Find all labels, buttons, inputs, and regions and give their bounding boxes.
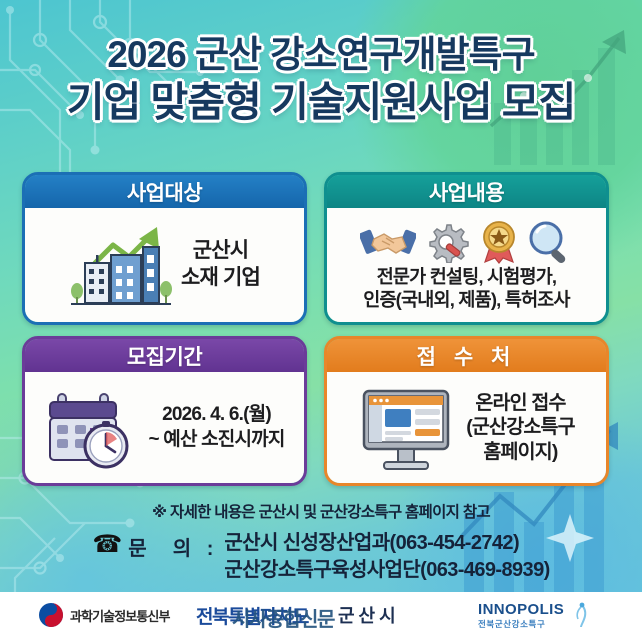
card-body-project-target: 군산시 소재 기업 bbox=[25, 208, 304, 322]
logo-innopolis-sub: 전북군산강소특구 bbox=[478, 618, 564, 630]
card-text-project-content: 전문가 컨설팅, 시험평가, 인증(국내외, 제품), 특허조사 bbox=[363, 266, 570, 312]
telephone-icon: ☎ bbox=[92, 533, 122, 557]
logo-innopolis: INNOPOLIS 전북군산강소특구 bbox=[478, 601, 592, 630]
card-application-channel: 접 수 처 bbox=[324, 336, 609, 486]
card-header-project-target: 사업대상 bbox=[25, 175, 304, 208]
title-line-1: 2026 군산 강소연구개발특구 bbox=[0, 36, 642, 73]
reference-note: ※ 자세한 내용은 군산시 및 군산강소특구 홈페이지 참고 bbox=[0, 500, 642, 522]
service-icon-row bbox=[360, 220, 573, 264]
card-body-application-channel: 온라인 접수 (군산강소특구 홈페이지) bbox=[327, 372, 606, 483]
taegeuk-icon bbox=[38, 602, 64, 628]
card-project-target: 사업대상 bbox=[22, 172, 307, 325]
card-body-project-content: 전문가 컨설팅, 시험평가, 인증(국내외, 제품), 특허조사 bbox=[327, 208, 606, 322]
info-card-grid: 사업대상 bbox=[22, 172, 620, 486]
calendar-stopwatch-icon bbox=[44, 384, 140, 472]
card-header-application-channel: 접 수 처 bbox=[327, 339, 606, 372]
logo-gunsan-city: 군 산 시 bbox=[338, 602, 395, 628]
buildings-growth-icon bbox=[69, 219, 173, 311]
poster-title: 2026 군산 강소연구개발특구 기업 맞춤형 기술지원사업 모집 bbox=[0, 36, 642, 123]
logo-innopolis-main: INNOPOLIS bbox=[478, 601, 564, 618]
logo-gunsan-label: 군 산 시 bbox=[338, 602, 395, 628]
card-text-project-target: 군산시 소재 기업 bbox=[181, 238, 260, 292]
contact-label: 문 의 : bbox=[128, 532, 218, 561]
card-header-project-content: 사업내용 bbox=[327, 175, 606, 208]
medal-icon bbox=[478, 220, 520, 264]
contact-block: ☎ 문 의 : 군산시 신성장산업과(063-454-2742) 군산강소특구육… bbox=[0, 530, 642, 584]
gear-wrench-icon bbox=[423, 221, 471, 263]
card-application-period: 모집기간 bbox=[22, 336, 307, 486]
logo-ministry-science-ict: 과학기술정보통신부 bbox=[38, 602, 170, 628]
innopolis-figure-icon bbox=[570, 601, 592, 629]
card-body-application-period: 2026. 4. 6.(월) ~ 예산 소진시까지 bbox=[25, 372, 304, 483]
poster-root: 2026 군산 강소연구개발특구 기업 맞춤형 기술지원사업 모집 사업대상 bbox=[0, 0, 642, 638]
logo-ministry-label: 과학기술정보통신부 bbox=[70, 606, 170, 625]
contact-line-1: 군산시 신성장산업과(063-454-2742) bbox=[224, 530, 549, 557]
handshake-icon bbox=[360, 221, 416, 263]
card-project-content: 사업내용 bbox=[324, 172, 609, 325]
contact-line-2: 군산강소특구육성사업단(063-469-8939) bbox=[224, 557, 549, 584]
magnifier-icon bbox=[527, 220, 573, 264]
desktop-monitor-icon bbox=[358, 383, 458, 473]
newspaper-watermark: 시사종합신문 bbox=[232, 603, 334, 632]
card-text-application-channel: 온라인 접수 (군산강소특구 홈페이지) bbox=[466, 391, 575, 465]
footer-logo-bar: 과학기술정보통신부 전북특별자치도 군 산 시 INNOPOLIS 전북군산강소… bbox=[0, 592, 642, 638]
card-header-application-period: 모집기간 bbox=[25, 339, 304, 372]
title-line-2: 기업 맞춤형 기술지원사업 모집 bbox=[0, 82, 642, 123]
card-text-application-period: 2026. 4. 6.(월) ~ 예산 소진시까지 bbox=[148, 403, 284, 452]
